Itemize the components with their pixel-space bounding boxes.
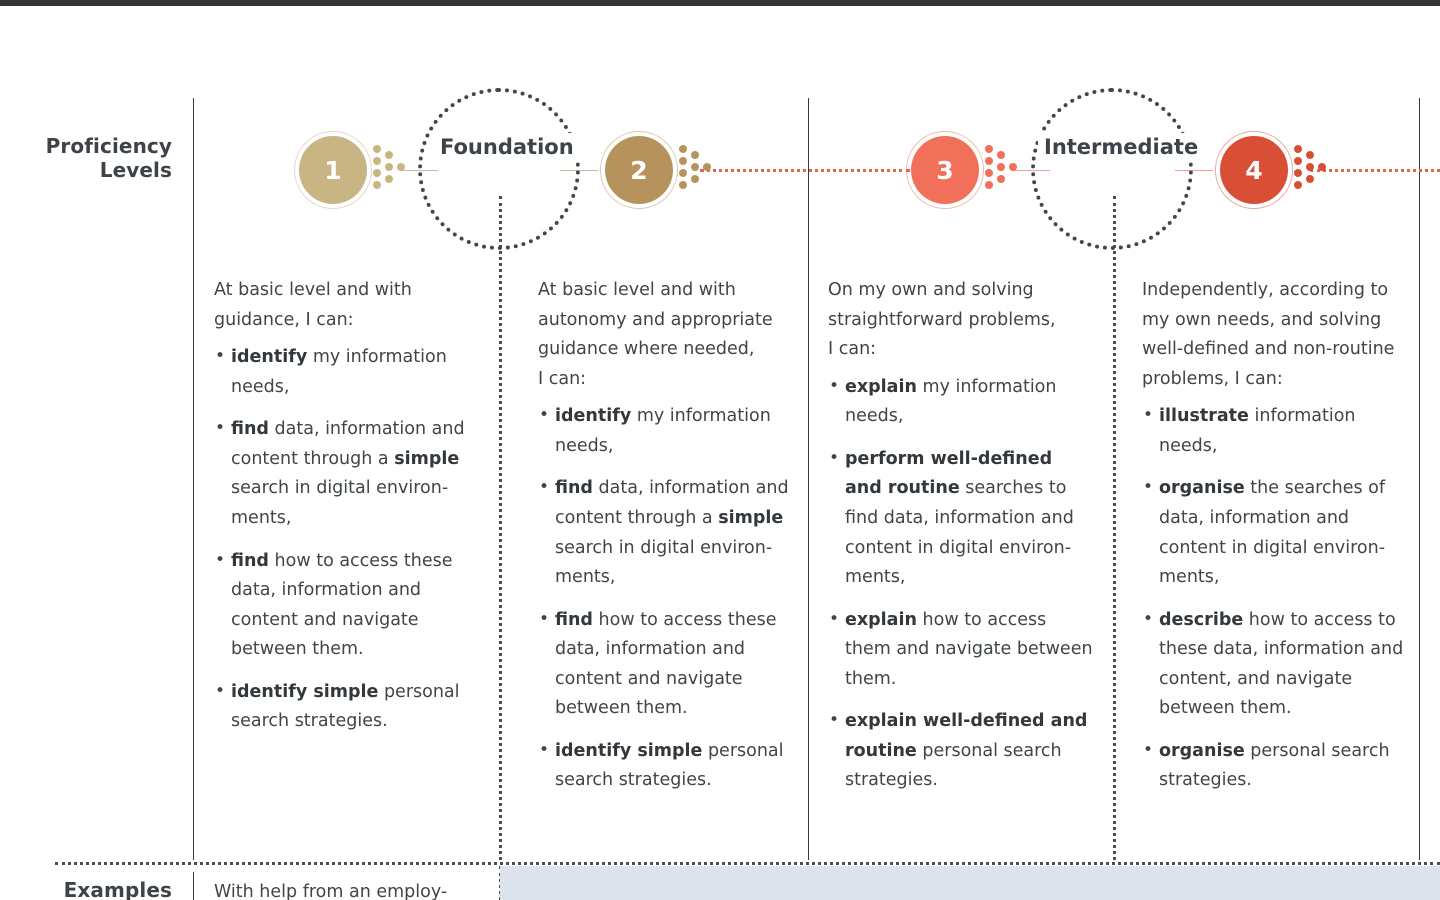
descriptor-bullet: find how to access these data, informati…: [538, 606, 793, 724]
descriptor-column-4: Independently, according to my own needs…: [1142, 276, 1404, 809]
examples-first-cell-text: With help from an employ-: [214, 878, 484, 900]
descriptor-column-2: At basic level and with autonomy and app…: [538, 276, 793, 809]
descriptor-bullet: identify simple personal search strategi…: [214, 678, 480, 737]
dotted-divider-col1-col2: [499, 196, 502, 860]
dot-arrow-4: [1294, 145, 1334, 197]
level-circle-4[interactable]: 4: [1220, 136, 1288, 204]
dotted-divider-col3-col4: [1113, 196, 1116, 860]
descriptor-bullet: identify simple personal search strategi…: [538, 737, 793, 796]
level-number-1: 1: [324, 156, 341, 185]
level-number-3: 3: [936, 156, 953, 185]
descriptor-bullet: identify my information needs,: [538, 402, 793, 461]
row-label-proficiency-levels: ProficiencyLevels: [22, 134, 172, 183]
descriptor-bullet: organise personal search strategies.: [1142, 737, 1404, 796]
timeline-dotted-segment-a: [700, 169, 910, 172]
descriptor-bullet: explain how to access them and navigate …: [828, 606, 1093, 695]
top-accent-bar: [0, 0, 1440, 6]
divider-line-middle: [808, 98, 809, 860]
examples-row-background: [500, 866, 1440, 900]
dot-arrow-1: [373, 145, 413, 197]
band-ring-intermediate: [1031, 88, 1193, 250]
descriptor-bullet: explain well-defined and routine persona…: [828, 707, 1093, 796]
descriptor-bullet: find how to access these data, informati…: [214, 547, 480, 665]
level-number-4: 4: [1245, 156, 1262, 185]
descriptor-column-3: On my own and solving straightforward pr…: [828, 276, 1093, 809]
dot-arrow-2: [679, 145, 719, 197]
level-circle-1[interactable]: 1: [299, 136, 367, 204]
dotted-rule-above-examples: [55, 862, 1440, 865]
descriptor-bullet: illustrate information needs,: [1142, 402, 1404, 461]
descriptor-bullet: find data, information and content throu…: [214, 415, 480, 533]
descriptor-intro-1: At basic level and with guidance, I can:: [214, 276, 480, 335]
descriptor-bullet: find data, information and content throu…: [538, 474, 793, 592]
descriptor-bullet: organise the searches of data, informati…: [1142, 474, 1404, 592]
divider-line-left-bottom: [193, 872, 194, 900]
divider-line-left: [193, 98, 194, 860]
infographic-page: ProficiencyLevels Examples With help fro…: [0, 0, 1440, 900]
descriptor-bullet: explain my information needs,: [828, 373, 1093, 432]
descriptor-intro-2: At basic level and with autonomy and app…: [538, 276, 793, 394]
descriptor-column-1: At basic level and with guidance, I can:…: [214, 276, 480, 750]
row-label-examples: Examples: [22, 878, 172, 900]
band-ring-foundation: [418, 88, 580, 250]
descriptor-list-3: explain my information needs,perform wel…: [828, 373, 1093, 796]
descriptor-list-2: identify my information needs,find data,…: [538, 402, 793, 796]
descriptor-list-1: identify my information needs,find data,…: [214, 343, 480, 737]
level-circle-3[interactable]: 3: [911, 136, 979, 204]
dot-arrow-3: [985, 145, 1025, 197]
level-number-2: 2: [630, 156, 647, 185]
descriptor-list-4: illustrate information needs,organise th…: [1142, 402, 1404, 796]
divider-line-right: [1419, 98, 1420, 860]
descriptor-intro-3: On my own and solving straightforward pr…: [828, 276, 1093, 365]
descriptor-bullet: identify my information needs,: [214, 343, 480, 402]
descriptor-bullet: perform well-defined and routine searche…: [828, 445, 1093, 593]
band-label-foundation: Foundation: [434, 133, 580, 161]
descriptor-intro-4: Independently, according to my own needs…: [1142, 276, 1404, 394]
band-label-intermediate: Intermediate: [1038, 133, 1204, 161]
level-circle-2[interactable]: 2: [605, 136, 673, 204]
descriptor-bullet: describe how to access to these data, in…: [1142, 606, 1404, 724]
